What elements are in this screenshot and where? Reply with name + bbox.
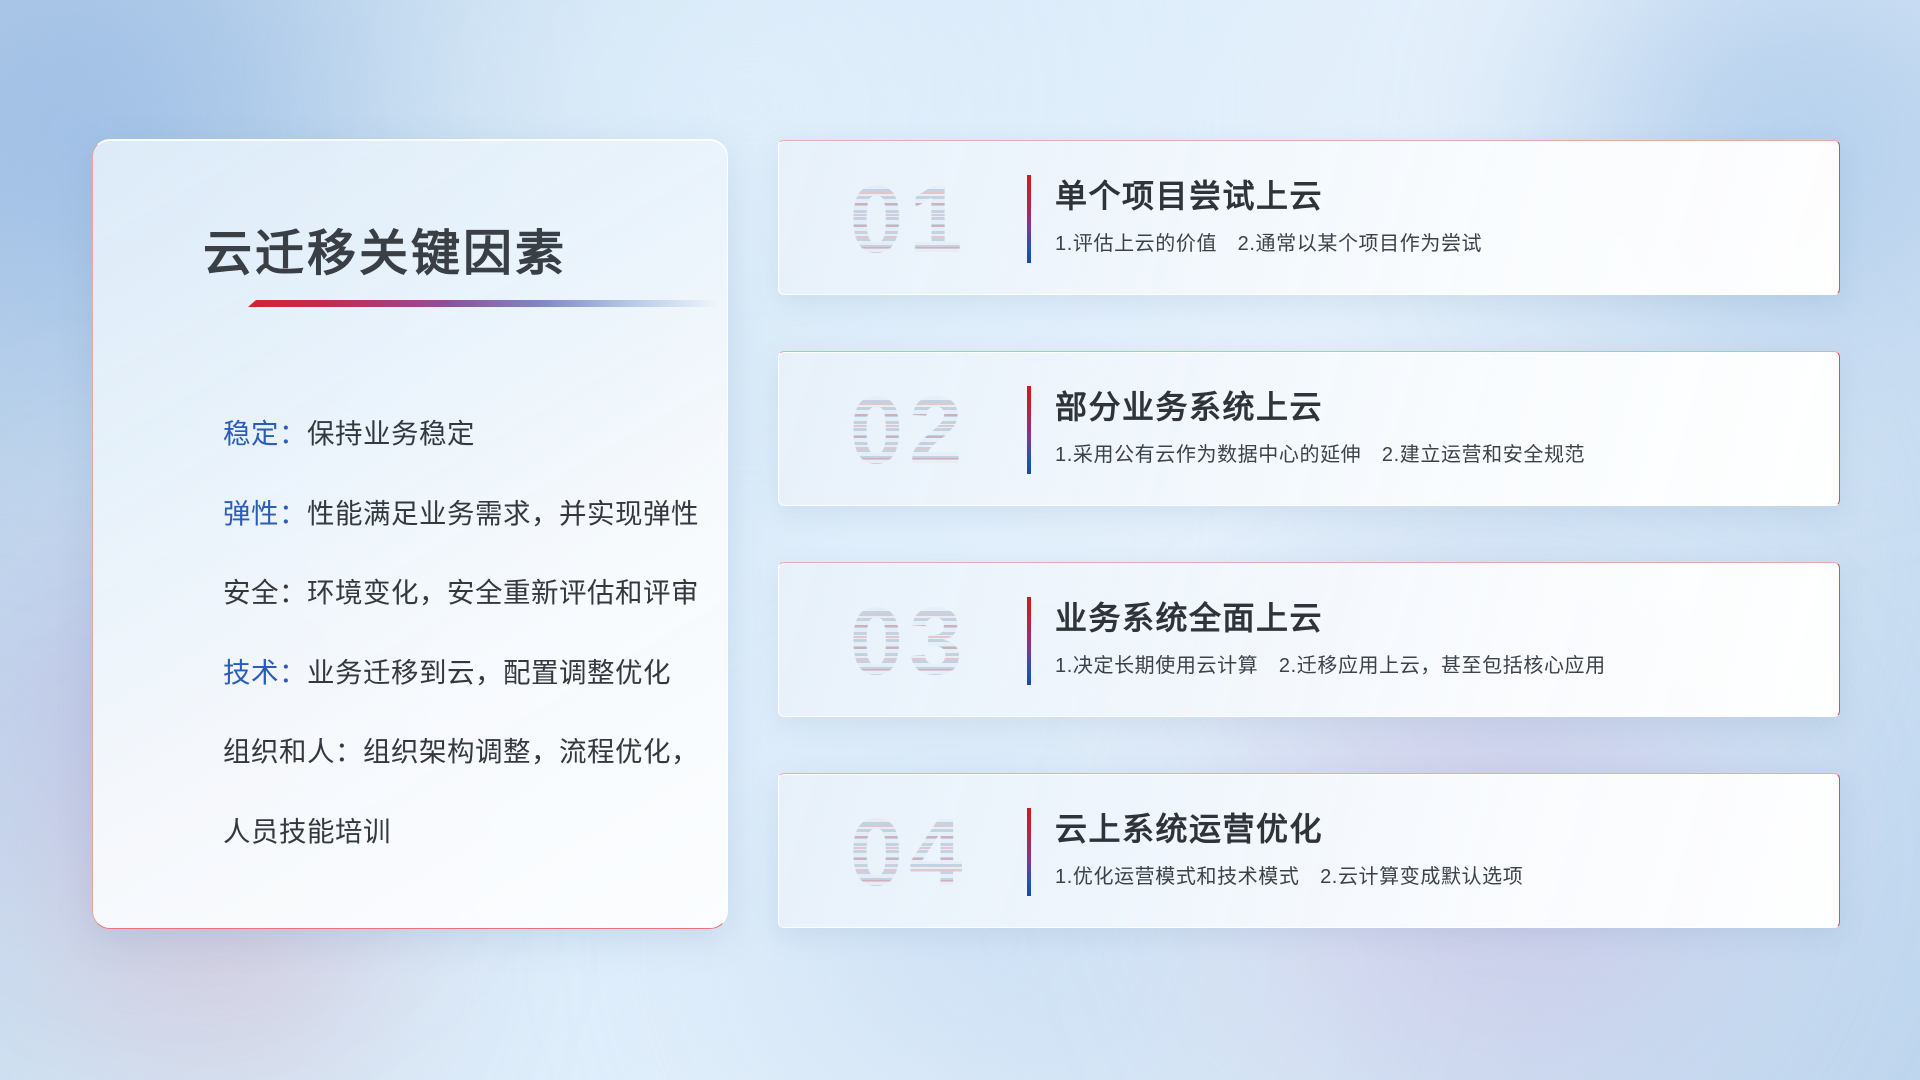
step-number-overlay: 03 (809, 583, 1009, 701)
key-factor-text: 组织架构调整，流程优化， (363, 736, 699, 767)
key-factors-list: 稳定：保持业务稳定 弹性：性能满足业务需求，并实现弹性 安全：环境变化，安全重新… (223, 420, 691, 845)
key-factor-text: 性能满足业务需求，并实现弹性 (307, 498, 699, 529)
key-factor-text: 业务迁移到云，配置调整优化 (307, 657, 671, 688)
key-factor-row: 安全：环境变化，安全重新评估和评审 (223, 579, 691, 607)
step-accent-bar (1027, 597, 1031, 685)
key-factor-text: 人员技能培训 (223, 816, 391, 847)
step-description: 1.评估上云的价值 2.通常以某个项目作为尝试 (1055, 227, 1482, 256)
key-factor-row: 组织和人：组织架构调整，流程优化， (223, 738, 691, 766)
step-card[interactable]: 02 02 部分业务系统上云 1.采用公有云作为数据中心的延伸 2.建立运营和安… (778, 351, 1840, 506)
key-factor-row: 人员技能培训 (223, 818, 691, 846)
key-factor-row: 稳定：保持业务稳定 (223, 420, 691, 448)
step-description: 1.决定长期使用云计算 2.迁移应用上云，甚至包括核心应用 (1055, 649, 1606, 678)
panel-title: 云迁移关键因素 (203, 214, 567, 285)
step-title: 云上系统运营优化 (1055, 804, 1323, 850)
step-title: 业务系统全面上云 (1055, 593, 1323, 639)
step-number-overlay: 01 (809, 161, 1009, 279)
key-factor-label: 稳定： (223, 418, 307, 449)
step-card[interactable]: 01 01 单个项目尝试上云 1.评估上云的价值 2.通常以某个项目作为尝试 (778, 140, 1840, 295)
key-factor-text: 环境变化，安全重新评估和评审 (307, 577, 699, 608)
key-factor-row: 技术：业务迁移到云，配置调整优化 (223, 659, 691, 687)
key-factor-label: 组织和人： (223, 736, 363, 767)
key-factor-label: 技术： (223, 657, 307, 688)
step-accent-bar (1027, 386, 1031, 474)
step-title: 部分业务系统上云 (1055, 382, 1323, 428)
step-card[interactable]: 04 04 云上系统运营优化 1.优化运营模式和技术模式 2.云计算变成默认选项 (778, 773, 1840, 928)
step-description: 1.采用公有云作为数据中心的延伸 2.建立运营和安全规范 (1055, 438, 1585, 467)
key-factors-panel: 云迁移关键因素 稳定：保持业务稳定 弹性：性能满足业务需求，并实现弹性 安全：环… (92, 139, 728, 929)
step-title: 单个项目尝试上云 (1055, 171, 1323, 217)
step-accent-bar (1027, 808, 1031, 896)
key-factor-label: 安全： (223, 577, 307, 608)
slide-stage: 云迁移关键因素 稳定：保持业务稳定 弹性：性能满足业务需求，并实现弹性 安全：环… (0, 0, 1920, 1080)
key-factor-text: 保持业务稳定 (307, 418, 475, 449)
step-description: 1.优化运营模式和技术模式 2.云计算变成默认选项 (1055, 860, 1523, 889)
key-factor-row: 弹性：性能满足业务需求，并实现弹性 (223, 500, 691, 528)
step-number-overlay: 04 (809, 794, 1009, 912)
step-number-overlay: 02 (809, 372, 1009, 490)
panel-title-underline (248, 300, 718, 307)
key-factor-label: 弹性： (223, 498, 307, 529)
step-accent-bar (1027, 175, 1031, 263)
step-card[interactable]: 03 03 业务系统全面上云 1.决定长期使用云计算 2.迁移应用上云，甚至包括… (778, 562, 1840, 717)
